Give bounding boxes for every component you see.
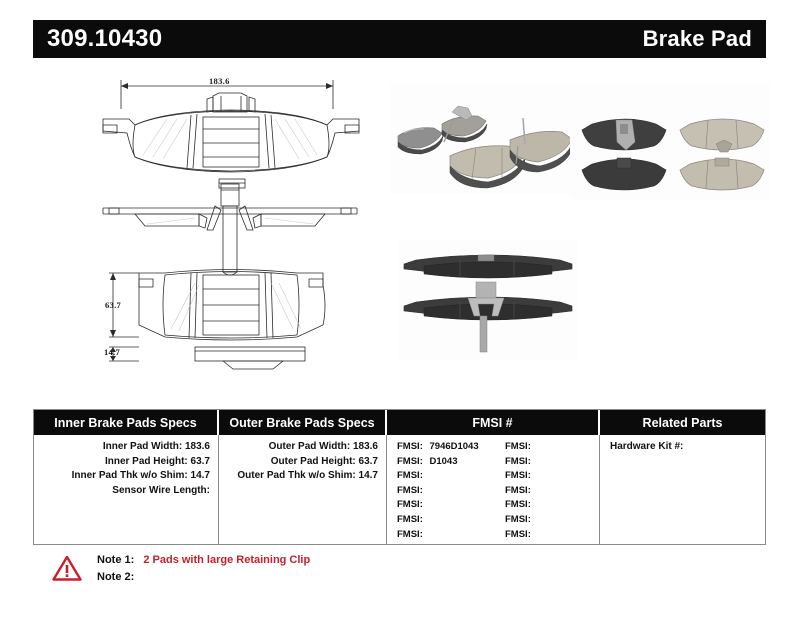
fmsi-label: FMSI: [397, 440, 423, 455]
title-bar: 309.10430 Brake Pad [33, 20, 766, 58]
fmsi-value [423, 470, 427, 481]
fmsi-value: D1043 [426, 456, 458, 467]
note-2-row: Note 2: [97, 569, 552, 586]
fmsi-value [423, 499, 427, 510]
fmsi-label: FMSI: [505, 528, 531, 543]
note-2-value [134, 571, 140, 583]
fmsi-value [531, 456, 535, 467]
inner-specs-cell: Inner Pad Width: 183.6 Inner Pad Height:… [34, 435, 219, 544]
pad-rear-view-drawing [95, 267, 395, 377]
fmsi-row: FMSI: [505, 440, 535, 455]
hardware-kit-label: Hardware Kit #: [610, 441, 683, 452]
fmsi-label: FMSI: [397, 513, 423, 528]
fmsi-cell: FMSI: 7946D1043 FMSI: D1043 FMSI: FMS [387, 435, 600, 544]
technical-drawings: 183.6 [0, 62, 800, 392]
fmsi-row: FMSI: [397, 528, 505, 543]
fmsi-label: FMSI: [505, 513, 531, 528]
fmsi-row: FMSI: [505, 455, 535, 470]
fmsi-value [531, 441, 535, 452]
fmsi-label: FMSI: [397, 469, 423, 484]
height-dimension-label: 63.7 [105, 300, 121, 310]
fmsi-column-left: FMSI: 7946D1043 FMSI: D1043 FMSI: FMS [397, 440, 505, 542]
outer-pad-width-row: Outer Pad Width: 183.6 [219, 440, 386, 455]
notes-section: Note 1: 2 Pads with large Retaining Clip… [52, 552, 552, 586]
product-category: Brake Pad [643, 26, 752, 52]
note-1-row: Note 1: 2 Pads with large Retaining Clip [97, 552, 552, 569]
thickness-dimension-label: 14.7 [104, 347, 120, 357]
fmsi-label: FMSI: [505, 455, 531, 470]
related-parts-cell: Hardware Kit #: [600, 435, 765, 544]
note-1-label: Note 1: [97, 554, 134, 566]
column-header-outer-specs: Outer Brake Pads Specs [219, 410, 387, 435]
inner-pad-width-label: Inner Pad Width: [103, 441, 182, 452]
part-number: 309.10430 [47, 25, 162, 53]
fmsi-value [531, 485, 535, 496]
table-header-row: Inner Brake Pads Specs Outer Brake Pads … [34, 410, 765, 435]
fmsi-value [423, 485, 427, 496]
inner-pad-width-value: 183.6 [185, 441, 210, 452]
fmsi-row: FMSI: [397, 498, 505, 513]
fmsi-row: FMSI: [397, 513, 505, 528]
column-header-inner-specs: Inner Brake Pads Specs [34, 410, 219, 435]
product-photo-angled-set [390, 84, 590, 194]
sensor-wire-length-label: Sensor Wire Length: [112, 485, 210, 496]
product-photo-edge-views [398, 240, 578, 360]
outer-pad-width-value: 183.6 [353, 441, 378, 452]
pad-front-view-drawing [95, 67, 395, 197]
fmsi-label: FMSI: [505, 484, 531, 499]
fmsi-label: FMSI: [505, 440, 531, 455]
fmsi-row: FMSI: [505, 498, 535, 513]
fmsi-row: FMSI: [505, 528, 535, 543]
hardware-kit-row: Hardware Kit #: [600, 440, 765, 455]
fmsi-row: FMSI: [505, 513, 535, 528]
note-2-label: Note 2: [97, 571, 134, 583]
warning-triangle-icon [52, 555, 82, 581]
inner-pad-width-row: Inner Pad Width: 183.6 [34, 440, 218, 455]
inner-pad-height-value: 63.7 [191, 456, 210, 467]
sensor-wire-length-row: Sensor Wire Length: [34, 484, 218, 499]
fmsi-label: FMSI: [505, 498, 531, 513]
outer-pad-height-value: 63.7 [359, 456, 378, 467]
table-body-row: Inner Pad Width: 183.6 Inner Pad Height:… [34, 435, 765, 544]
specifications-table: Inner Brake Pads Specs Outer Brake Pads … [33, 409, 766, 545]
inner-pad-thickness-value: 14.7 [191, 470, 210, 481]
width-dimension-label: 183.6 [209, 76, 230, 86]
fmsi-label: FMSI: [397, 528, 423, 543]
fmsi-row: FMSI: D1043 [397, 455, 505, 470]
outer-pad-thickness-row: Outer Pad Thk w/o Shim: 14.7 [219, 469, 386, 484]
outer-pad-thickness-value: 14.7 [359, 470, 378, 481]
fmsi-label: FMSI: [397, 484, 423, 499]
fmsi-label: FMSI: [505, 469, 531, 484]
fmsi-row: FMSI: [505, 484, 535, 499]
fmsi-label: FMSI: [397, 455, 423, 470]
outer-pad-height-row: Outer Pad Height: 63.7 [219, 455, 386, 470]
note-1-value: 2 Pads with large Retaining Clip [137, 554, 310, 566]
spec-sheet: 309.10430 Brake Pad [0, 0, 800, 619]
inner-pad-thickness-row: Inner Pad Thk w/o Shim: 14.7 [34, 469, 218, 484]
inner-pad-thickness-label: Inner Pad Thk w/o Shim: [72, 470, 188, 481]
column-header-related-parts: Related Parts [600, 410, 765, 435]
outer-specs-cell: Outer Pad Width: 183.6 Outer Pad Height:… [219, 435, 387, 544]
fmsi-row: FMSI: 7946D1043 [397, 440, 505, 455]
fmsi-value [531, 499, 535, 510]
product-photo-four-pads-grid [570, 84, 770, 199]
fmsi-value [423, 514, 427, 525]
fmsi-row: FMSI: [397, 484, 505, 499]
inner-pad-height-row: Inner Pad Height: 63.7 [34, 455, 218, 470]
fmsi-row: FMSI: [505, 469, 535, 484]
fmsi-value [531, 514, 535, 525]
fmsi-value [531, 470, 535, 481]
fmsi-value [531, 529, 535, 540]
outer-pad-width-label: Outer Pad Width: [269, 441, 351, 452]
outer-pad-thickness-label: Outer Pad Thk w/o Shim: [237, 470, 355, 481]
fmsi-column-right: FMSI: FMSI: FMSI: FMSI: [505, 440, 535, 542]
fmsi-label: FMSI: [397, 498, 423, 513]
fmsi-row: FMSI: [397, 469, 505, 484]
inner-pad-height-label: Inner Pad Height: [105, 456, 188, 467]
fmsi-value [423, 529, 427, 540]
outer-pad-height-label: Outer Pad Height: [271, 456, 356, 467]
fmsi-value: 7946D1043 [426, 441, 479, 452]
column-header-fmsi: FMSI # [387, 410, 600, 435]
